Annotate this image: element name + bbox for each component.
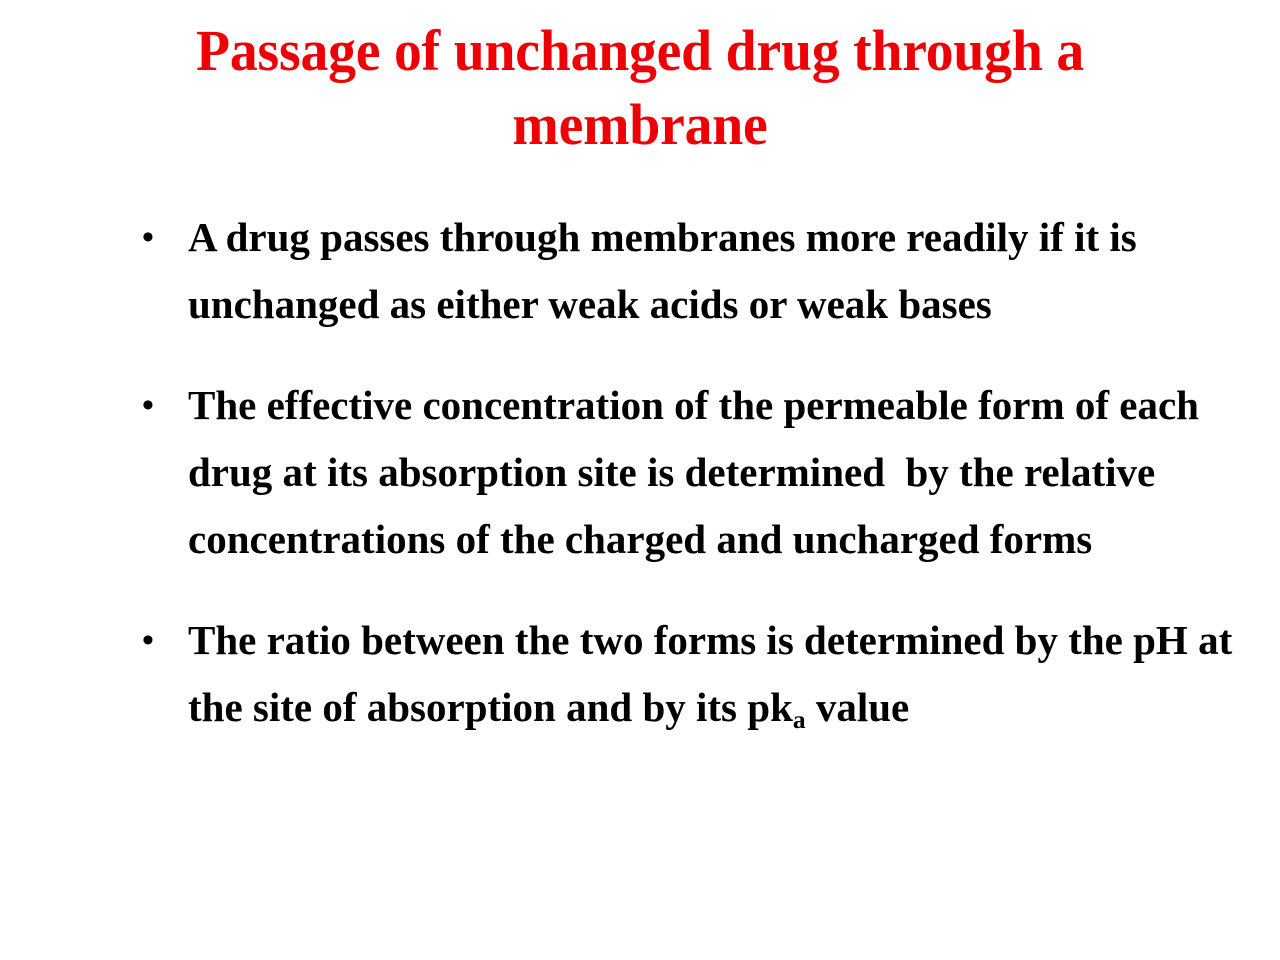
slide-canvas: Passage of unchanged drug through a memb… [0, 0, 1280, 960]
bullet-point-icon: • [142, 372, 164, 439]
list-item: • The ratio between the two forms is det… [130, 607, 1240, 741]
bullet-text: The ratio between the two forms is deter… [188, 607, 1240, 741]
list-item: • The effective concentration of the per… [130, 372, 1240, 573]
bullet-point-icon: • [142, 607, 164, 674]
bullet-text: A drug passes through membranes more rea… [188, 204, 1240, 338]
bullet-point-icon: • [142, 204, 164, 271]
bullet-text-tail: value [806, 684, 910, 730]
list-item: • A drug passes through membranes more r… [130, 204, 1240, 338]
pka-subscript: a [793, 706, 806, 734]
bullet-text: The effective concentration of the perme… [188, 372, 1240, 573]
bullet-text-main: The ratio between the two forms is deter… [188, 617, 1242, 730]
page-title: Passage of unchanged drug through a memb… [83, 14, 1197, 162]
bullet-list: • A drug passes through membranes more r… [130, 204, 1240, 741]
